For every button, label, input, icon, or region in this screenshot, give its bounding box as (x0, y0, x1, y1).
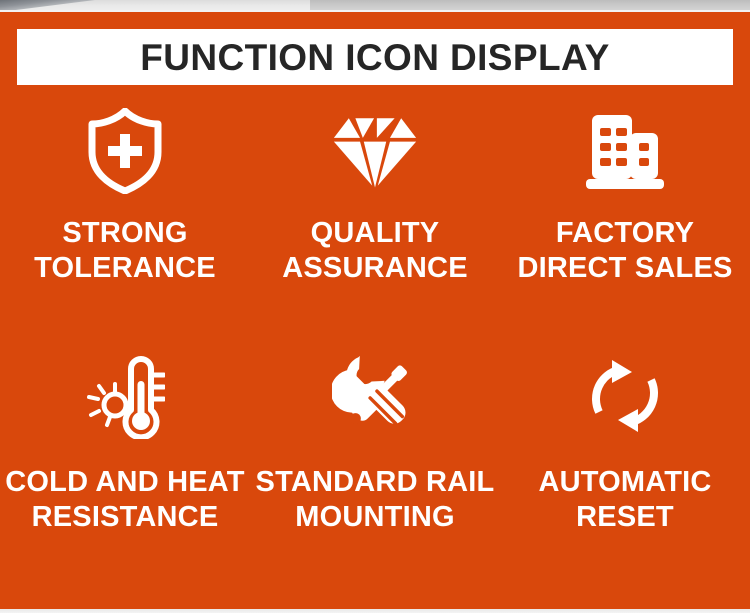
refresh-reset-icon (582, 353, 668, 439)
screwdriver-wrench-icon (332, 353, 418, 439)
feature-item-cold-and-heat-resistance: COLD AND HEAT RESISTANCE (0, 341, 250, 586)
shield-plus-icon (82, 108, 168, 194)
feature-label: COLD AND HEAT RESISTANCE (5, 465, 244, 535)
sliver-baseline (0, 10, 750, 12)
feature-label: STANDARD RAIL MOUNTING (256, 465, 495, 535)
feature-label: AUTOMATIC RESET (538, 465, 711, 535)
feature-label: STRONG TOLERANCE (34, 216, 216, 286)
thermometer-sun-icon (82, 353, 168, 439)
diamond-icon (332, 108, 418, 194)
feature-item-factory-direct-sales: FACTORY DIRECT SALES (500, 96, 750, 341)
previous-banner-sliver (0, 0, 750, 12)
page-title: FUNCTION ICON DISPLAY (140, 39, 610, 76)
feature-item-standard-rail-mounting: STANDARD RAIL MOUNTING (250, 341, 500, 586)
feature-item-strong-tolerance: STRONG TOLERANCE (0, 96, 250, 341)
next-banner-sliver (0, 609, 750, 613)
feature-item-automatic-reset: AUTOMATIC RESET (500, 341, 750, 586)
function-icon-display-banner: FUNCTION ICON DISPLAY STRONG TOLERANCE (0, 0, 750, 613)
feature-grid: STRONG TOLERANCE (0, 96, 750, 586)
feature-label: FACTORY DIRECT SALES (517, 216, 732, 286)
factory-buildings-icon (582, 108, 668, 194)
feature-item-quality-assurance: QUALITY ASSURANCE (250, 96, 500, 341)
title-bar: FUNCTION ICON DISPLAY (17, 29, 733, 85)
feature-label: QUALITY ASSURANCE (282, 216, 468, 286)
